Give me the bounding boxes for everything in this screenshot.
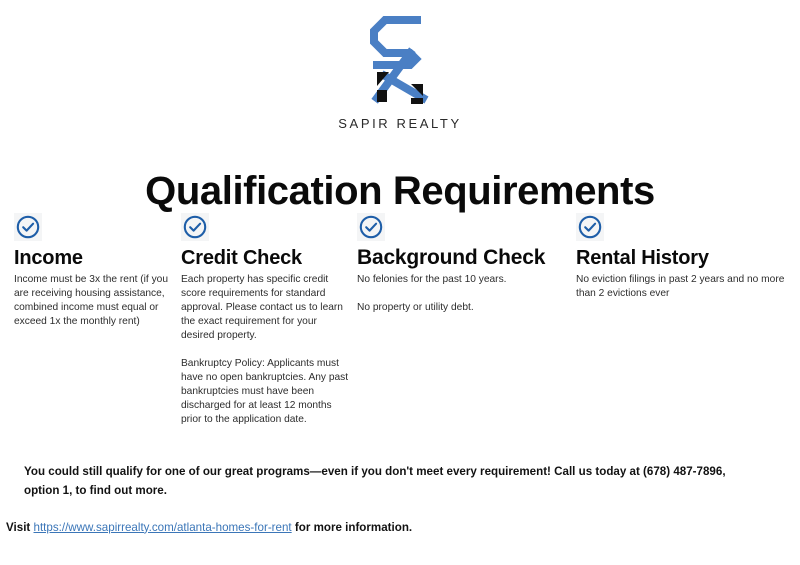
- column-paragraph: No property or utility debt.: [357, 301, 572, 315]
- requirement-column-credit-check: Credit Check Each property has specific …: [181, 213, 349, 427]
- column-heading: Background Check: [357, 246, 572, 270]
- brand-logo-block: SAPIR REALTY: [0, 14, 800, 131]
- sapir-realty-sr-monogram-icon: [355, 14, 445, 110]
- column-paragraph: Income must be 3x the rent (if you are r…: [14, 273, 182, 329]
- page-title: Qualification Requirements: [0, 169, 800, 214]
- website-url-link[interactable]: https://www.sapirrealty.com/atlanta-home…: [34, 521, 292, 534]
- column-heading: Income: [14, 246, 182, 270]
- column-paragraph: Each property has specific credit score …: [181, 273, 349, 343]
- check-circle-icon: [181, 213, 209, 241]
- column-heading: Credit Check: [181, 246, 349, 270]
- requirement-column-income: Income Income must be 3x the rent (if yo…: [14, 213, 182, 329]
- visit-suffix: for more information.: [292, 521, 412, 534]
- column-paragraph: No felonies for the past 10 years.: [357, 273, 572, 287]
- column-paragraph: No eviction filings in past 2 years and …: [576, 273, 794, 301]
- brand-wordmark: SAPIR REALTY: [0, 116, 800, 131]
- check-circle-icon: [14, 213, 42, 241]
- check-circle-icon: [357, 213, 385, 241]
- footer-visit-line: Visit https://www.sapirrealty.com/atlant…: [6, 520, 786, 536]
- footer-callout: You could still qualify for one of our g…: [24, 462, 764, 500]
- column-heading: Rental History: [576, 246, 794, 270]
- visit-prefix: Visit: [6, 521, 34, 534]
- requirements-columns: Income Income must be 3x the rent (if yo…: [0, 213, 800, 438]
- requirement-column-background-check: Background Check No felonies for the pas…: [357, 213, 572, 315]
- requirement-column-rental-history: Rental History No eviction filings in pa…: [576, 213, 794, 301]
- column-paragraph: Bankruptcy Policy: Applicants must have …: [181, 357, 349, 427]
- check-circle-icon: [576, 213, 604, 241]
